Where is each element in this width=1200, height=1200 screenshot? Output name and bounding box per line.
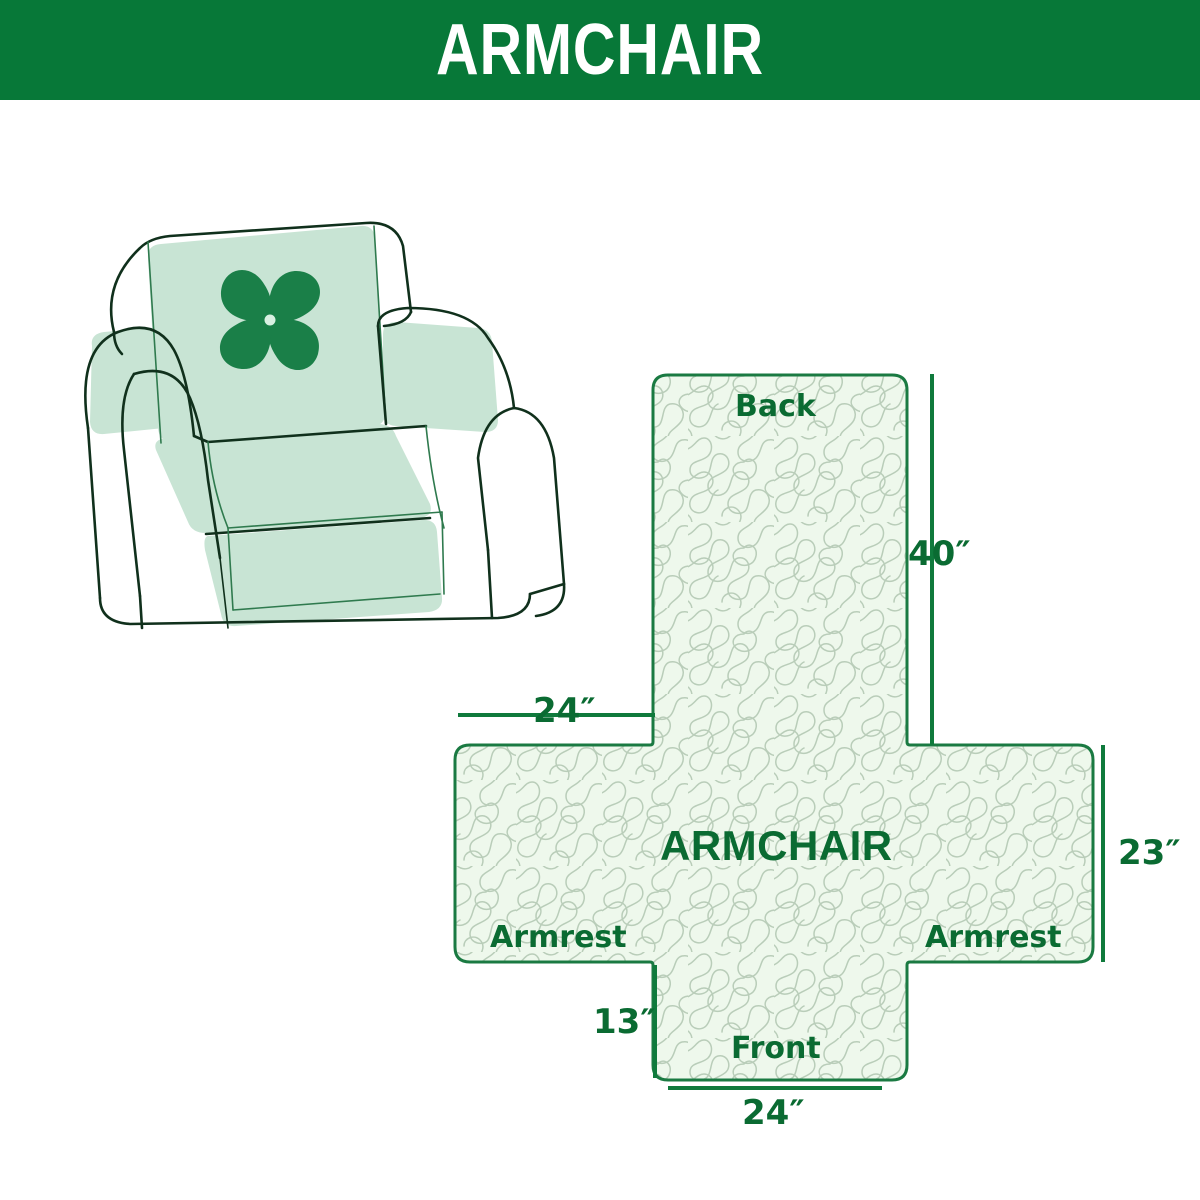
dimension-label-back-width: 24″ (533, 691, 596, 731)
diagram-center-label: ARMCHAIR (660, 822, 893, 870)
header-banner: ARMCHAIR (0, 0, 1200, 100)
panel-label-armrest-right: Armrest (925, 920, 1062, 955)
panel-label-front: Front (731, 1031, 821, 1066)
page-title: ARMCHAIR (436, 14, 764, 86)
dimension-label-armrest-depth: 23″ (1118, 833, 1181, 873)
product-size-diagram-page: ARMCHAIR (0, 0, 1200, 1200)
dimension-label-front-width: 24″ (742, 1093, 805, 1133)
dimension-label-back-height: 40″ (908, 534, 971, 574)
dimension-label-front-height: 13″ (593, 1002, 656, 1042)
flat-pattern-diagram (430, 350, 1200, 1140)
panel-label-armrest-left: Armrest (490, 920, 627, 955)
panel-label-back: Back (735, 389, 816, 424)
